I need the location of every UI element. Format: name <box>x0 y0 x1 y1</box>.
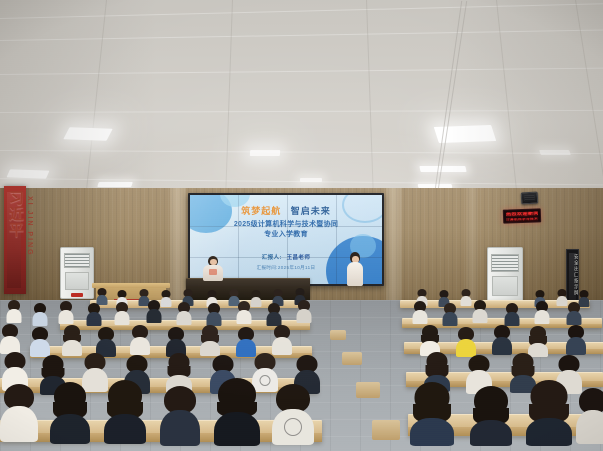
audience-member <box>460 289 471 305</box>
audience-member <box>412 301 427 323</box>
chair-back <box>342 352 362 365</box>
audience-member <box>456 327 476 355</box>
audience-member-front <box>50 382 90 442</box>
ac-badge <box>71 293 84 297</box>
slide-presenter-label: 汇报人: <box>262 255 282 261</box>
audience-member-front <box>214 378 260 444</box>
audience-member-front <box>576 388 603 444</box>
slide-subtitle-line2: 专业入学教育 <box>190 231 382 240</box>
wall-slogan-pinyin: XI JIN PING <box>26 196 33 257</box>
audience-member <box>272 325 292 353</box>
audience-member <box>472 300 487 322</box>
audience-member <box>96 327 116 355</box>
air-conditioner-left <box>60 247 94 299</box>
slide-subtitle-line1: 2025级计算机科学与技术暨协同 <box>190 221 382 230</box>
audience-member <box>236 327 256 355</box>
audience-member-front <box>160 386 200 444</box>
slide-title-part-a: 筑梦起航 <box>241 206 281 216</box>
audience-member-front <box>0 384 38 440</box>
ac-control-panel <box>65 272 89 290</box>
air-conditioner-right <box>487 247 523 305</box>
chair-back <box>330 330 346 340</box>
audience-member-front <box>104 380 146 442</box>
ceiling <box>0 0 603 196</box>
audience-member <box>160 290 171 306</box>
audience-member <box>296 300 311 322</box>
chair-back <box>356 382 380 398</box>
lecture-hall-photo: 习近平 XI JIN PING 热烈欢迎新同学 计算机科学与技术学院 安全出口指… <box>0 0 603 451</box>
audience-member-front <box>410 382 454 444</box>
wall-slogan-chinese: 习近平 <box>8 190 23 238</box>
audience-member <box>176 302 191 324</box>
audience-member <box>30 327 50 355</box>
standing-presenter-body <box>347 262 363 286</box>
audience-member <box>200 325 220 353</box>
audience-member <box>266 303 281 325</box>
ac-control-panel <box>492 276 518 296</box>
shirt-graphic <box>260 375 271 386</box>
audience-member <box>206 303 221 325</box>
audience-member <box>2 352 28 388</box>
seated-presenter-shirt-graphic <box>209 269 217 275</box>
led-sign-line2: 计算机科学与技术学院 <box>506 217 538 222</box>
audience-member <box>86 303 101 325</box>
audience-member <box>534 301 549 323</box>
audience-member <box>250 290 261 306</box>
audience-member <box>566 302 581 324</box>
slide-title-part-b: 智启未来 <box>291 206 331 216</box>
audience-member <box>528 326 548 354</box>
ac-vent <box>491 254 518 272</box>
audience-member <box>166 353 192 389</box>
ceiling-shading <box>0 0 603 196</box>
slide-title: 筑梦起航 智启未来 <box>190 207 382 216</box>
audience-member-front <box>470 386 512 444</box>
audience-member <box>492 325 512 353</box>
audience-member <box>58 301 73 323</box>
ac-vent <box>64 253 90 268</box>
led-scrolling-sign: 热烈欢迎新同学 计算机科学与技术学院 <box>503 208 541 223</box>
seated-presenter <box>202 256 224 282</box>
audience-member <box>62 325 82 353</box>
audience-member-front <box>526 380 572 444</box>
audience-member <box>420 325 440 353</box>
audience-member <box>166 327 186 355</box>
audience-member <box>442 303 457 325</box>
chair-back <box>372 420 400 440</box>
wall-speaker <box>521 192 539 205</box>
audience-member <box>32 303 47 325</box>
standing-presenter <box>345 252 365 286</box>
audience-member <box>146 300 161 322</box>
audience-member <box>566 325 586 353</box>
audience-member <box>0 324 20 352</box>
audience-member <box>236 301 251 323</box>
audience-member <box>96 288 107 304</box>
audience-member <box>114 302 129 324</box>
slide-presenter-name: 王昌老师 <box>287 255 311 261</box>
audience-member <box>504 303 519 325</box>
audience-member-front <box>272 384 314 444</box>
stage-table-front <box>186 286 310 301</box>
audience-member <box>6 300 21 322</box>
audience-member <box>130 325 150 353</box>
shirt-graphic <box>284 418 302 436</box>
